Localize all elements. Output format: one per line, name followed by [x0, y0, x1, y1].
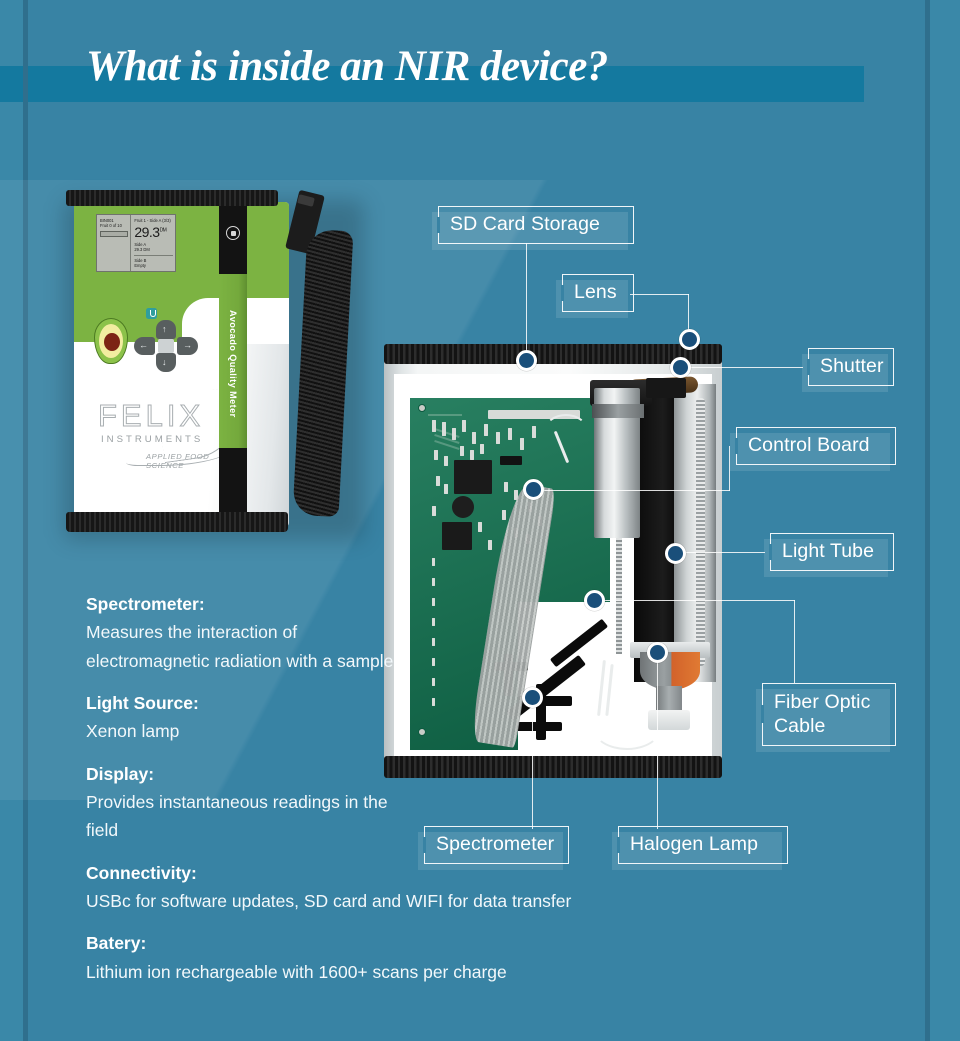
- callout-outline-gap: [561, 285, 564, 301]
- spec-body: Measures the interaction of electromagne…: [86, 618, 416, 675]
- lcd-reading-unit: DM: [160, 227, 167, 233]
- lcd-side-b-value: Empty: [134, 263, 173, 268]
- marker-light-tube[interactable]: [665, 543, 686, 564]
- callout-outline-gap: [769, 544, 772, 560]
- spec-body: USBc for software updates, SD card and W…: [86, 887, 706, 915]
- spec-heading: Display:: [86, 760, 706, 788]
- lcd-reading-value-row: 29.3DM: [134, 225, 173, 239]
- device-lcd-screen: BIN001 Fruit 0 of 10 Fruit 1 - Side A (3…: [96, 214, 176, 272]
- lcd-fruit-count: Fruit 0 of 10: [100, 223, 128, 228]
- spec-item-light-source: Light Source: Xenon lamp: [86, 689, 706, 746]
- callout-outline-gap: [761, 705, 764, 723]
- dpad-control[interactable]: ↑ ↓ ← →: [134, 320, 198, 372]
- spec-item-connectivity: Connectivity: USBc for software updates,…: [86, 859, 706, 916]
- pcb-screw-hole: [418, 404, 426, 412]
- spec-body: Provides instantaneous readings in the f…: [86, 788, 416, 845]
- handheld-device-illustration: BIN001 Fruit 0 of 10 Fruit 1 - Side A (3…: [62, 190, 364, 540]
- spec-body: Lithium ion rechargeable with 1600+ scan…: [86, 958, 706, 986]
- felix-logo: FELIX INSTRUMENTS APPLIED FOOD SCIENCE: [98, 398, 238, 470]
- device-power-icon[interactable]: [226, 226, 240, 240]
- power-button-icon[interactable]: [146, 308, 157, 319]
- spec-item-display: Display: Provides instantaneous readings…: [86, 760, 706, 845]
- shutter-block: [646, 378, 686, 398]
- marker-lens[interactable]: [679, 329, 700, 350]
- callout-label: Control Board: [748, 427, 886, 465]
- callout-sd-card-storage[interactable]: SD Card Storage: [432, 206, 628, 244]
- lcd-progress-bar: [100, 231, 128, 237]
- dpad-down-button[interactable]: ↓: [156, 353, 176, 372]
- marker-sd-card-storage[interactable]: [516, 350, 537, 371]
- device-side-top-block: [219, 202, 247, 274]
- device-side-label: Avocado Quality Meter: [221, 282, 245, 446]
- spec-list: Spectrometer: Measures the interaction o…: [86, 590, 706, 1000]
- dpad-up-button[interactable]: ↑: [156, 320, 176, 339]
- spec-heading: Connectivity:: [86, 859, 706, 887]
- marker-shutter[interactable]: [670, 357, 691, 378]
- infographic-canvas: What is inside an NIR device? BIN001 Fru…: [0, 0, 960, 1041]
- right-vertical-rule: [925, 0, 930, 1041]
- device-hand-strap: [270, 192, 358, 524]
- spec-item-battery: Batery: Lithium ion rechargeable with 16…: [86, 929, 706, 986]
- page-title: What is inside an NIR device?: [86, 42, 846, 91]
- callout-shutter[interactable]: Shutter: [802, 348, 888, 386]
- arrow-up-icon: ↑: [162, 325, 167, 334]
- lcd-reading-value: 29.3: [134, 224, 159, 240]
- callout-label: Lens: [574, 274, 624, 312]
- dpad-left-button[interactable]: ←: [134, 337, 155, 355]
- callout-lens[interactable]: Lens: [556, 274, 628, 312]
- strap-mesh: [293, 229, 354, 517]
- left-vertical-rule: [23, 0, 28, 1041]
- avocado-pit: [104, 333, 120, 351]
- marker-control-board[interactable]: [523, 479, 544, 500]
- leader-shutter: [681, 367, 803, 368]
- dpad-center-button[interactable]: [158, 339, 174, 353]
- pcb-secondary-ic: [442, 522, 472, 550]
- callout-label: Fiber Optic Cable: [774, 683, 886, 746]
- leader-fiber-v: [794, 600, 795, 683]
- pcb-wire-loop: [544, 414, 588, 448]
- callout-label: SD Card Storage: [450, 206, 624, 244]
- leader-light-tube: [676, 552, 765, 553]
- spec-heading: Light Source:: [86, 689, 706, 717]
- lcd-reading-header: Fruit 1 - Side A (3/3): [134, 218, 173, 223]
- callout-label: Shutter: [820, 348, 884, 386]
- pcb-main-ic: [454, 460, 492, 494]
- lens-collar: [592, 404, 644, 418]
- leader-sd-card-storage: [526, 243, 527, 360]
- device-bottom-bumper: [66, 512, 288, 532]
- right-edge-strip: [930, 0, 960, 1041]
- callout-fiber-optic-cable[interactable]: Fiber Optic Cable: [756, 683, 890, 746]
- arrow-down-icon: ↓: [162, 358, 167, 367]
- left-edge-strip: [0, 0, 23, 1041]
- lcd-separator: [134, 255, 173, 256]
- lcd-side-a-value: 29.3 DM: [134, 247, 173, 252]
- spec-heading: Spectrometer:: [86, 590, 706, 618]
- spec-body: Xenon lamp: [86, 717, 416, 745]
- callout-outline-gap: [807, 359, 810, 375]
- callout-control-board[interactable]: Control Board: [730, 427, 890, 465]
- callout-light-tube[interactable]: Light Tube: [764, 533, 888, 571]
- device-top-bumper: [66, 190, 278, 206]
- lcd-left-pane: BIN001 Fruit 0 of 10: [97, 215, 131, 271]
- leader-control-board-h: [534, 490, 730, 491]
- callout-label: Light Tube: [782, 533, 884, 571]
- callout-outline-gap: [437, 217, 440, 233]
- pcb-connector: [500, 456, 522, 465]
- dpad-right-button[interactable]: →: [177, 337, 198, 355]
- spec-heading: Batery:: [86, 929, 706, 957]
- pcb-capacitor: [452, 496, 474, 518]
- arrow-right-icon: →: [183, 341, 192, 350]
- leader-lens-h: [630, 294, 689, 295]
- spec-item-spectrometer: Spectrometer: Measures the interaction o…: [86, 590, 706, 675]
- callout-outline-gap: [735, 438, 738, 454]
- arrow-left-icon: ←: [139, 341, 148, 350]
- device-side-panel: Avocado Quality Meter: [219, 202, 247, 528]
- lcd-right-pane: Fruit 1 - Side A (3/3) 29.3DM Side A 29.…: [131, 215, 175, 271]
